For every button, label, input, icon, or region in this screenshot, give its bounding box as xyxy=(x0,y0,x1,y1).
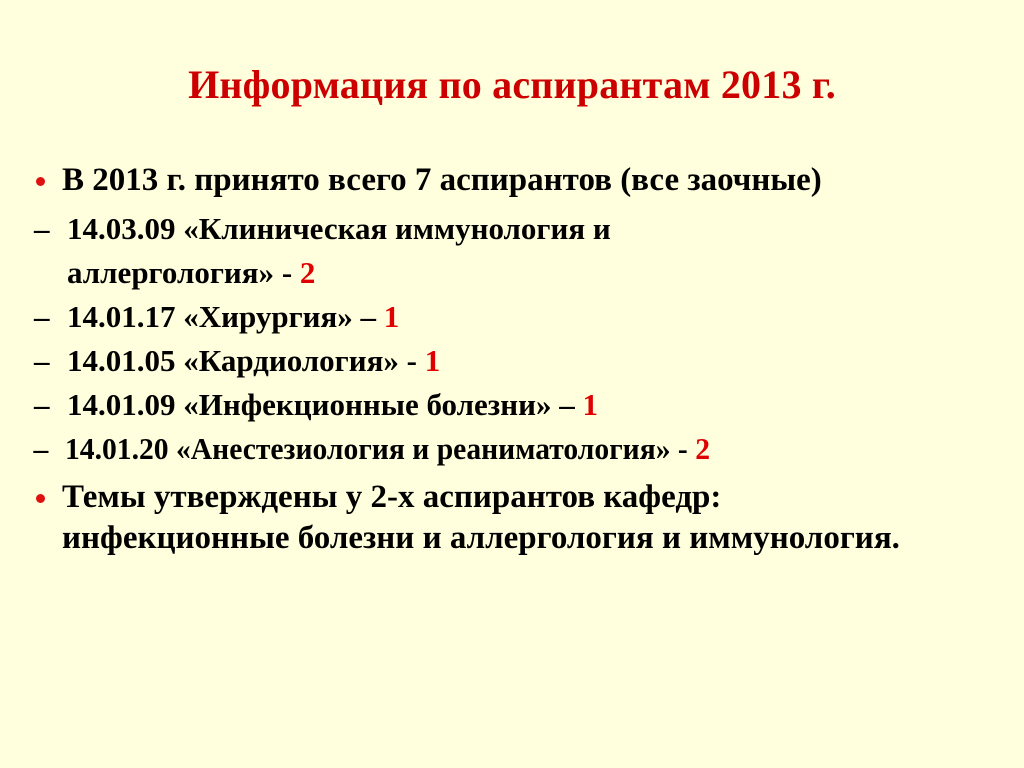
specialty-separator: - xyxy=(678,431,688,466)
list-item-specialty-14-01-05: – 14.01.05 «Кардиология» - 1 xyxy=(22,339,1024,383)
intro-bullet-text: В 2013 г. принято всего 7 аспирантов (вс… xyxy=(62,162,822,198)
specialty-name: «Инфекционные болезни» xyxy=(183,387,551,422)
list-item-intro: В 2013 г. принято всего 7 аспирантов (вс… xyxy=(22,160,1002,201)
closing-bullet-text: Темы утверждены у 2-х аспирантов кафедр:… xyxy=(62,477,942,559)
slide: Информация по аспирантам 2013 г. В 2013 … xyxy=(0,0,1024,768)
specialty-code: 14.03.09 xyxy=(67,211,176,246)
specialty-count: 1 xyxy=(425,343,441,378)
list-item-specialty-14-01-20: – 14.01.20 «Анестезиология и реаниматоло… xyxy=(22,427,979,471)
bullet-dot-icon xyxy=(36,177,45,186)
specialty-code: 14.01.05 xyxy=(67,343,176,378)
list-item-specialty-14-01-17: – 14.01.17 «Хирургия» – 1 xyxy=(22,295,1024,339)
dash-marker-icon: – xyxy=(34,295,50,339)
dash-marker-icon: – xyxy=(33,427,48,471)
specialty-count: 1 xyxy=(582,387,598,422)
specialty-code: 14.01.09 xyxy=(67,387,176,422)
list-item-specialties-container: – 14.03.09 «Клиническая иммунология и ал… xyxy=(0,207,1024,471)
bullet-list-level-1: В 2013 г. принято всего 7 аспирантов (вс… xyxy=(0,160,1024,559)
specialty-code: 14.01.17 xyxy=(67,299,176,334)
specialty-separator: – xyxy=(361,299,377,334)
dash-marker-icon: – xyxy=(34,383,50,427)
page-title: Информация по аспирантам 2013 г. xyxy=(0,62,1024,108)
bullet-dot-icon xyxy=(36,494,45,503)
dash-marker-icon: – xyxy=(34,339,50,383)
bullet-list-level-2: – 14.03.09 «Клиническая иммунология и ал… xyxy=(0,207,1024,471)
specialty-name: «Хирургия» xyxy=(183,299,353,334)
specialty-name: «Анестезиология и реаниматология» xyxy=(176,431,671,466)
list-item-specialty-14-03-09: – 14.03.09 «Клиническая иммунология и ал… xyxy=(22,207,627,295)
specialty-code: 14.01.20 xyxy=(65,431,169,466)
specialty-separator: – xyxy=(559,387,575,422)
specialty-count: 1 xyxy=(384,299,400,334)
specialty-separator: - xyxy=(282,255,292,290)
slide-body: В 2013 г. принято всего 7 аспирантов (вс… xyxy=(0,160,1024,559)
list-item-specialty-14-01-09: – 14.01.09 «Инфекционные болезни» – 1 xyxy=(22,383,1024,427)
specialty-separator: - xyxy=(407,343,417,378)
list-item-closing: Темы утверждены у 2-х аспирантов кафедр:… xyxy=(22,477,1002,559)
specialty-name: «Кардиология» xyxy=(183,343,399,378)
specialty-count: 2 xyxy=(695,431,710,466)
specialty-count: 2 xyxy=(300,255,316,290)
dash-marker-icon: – xyxy=(34,207,50,251)
